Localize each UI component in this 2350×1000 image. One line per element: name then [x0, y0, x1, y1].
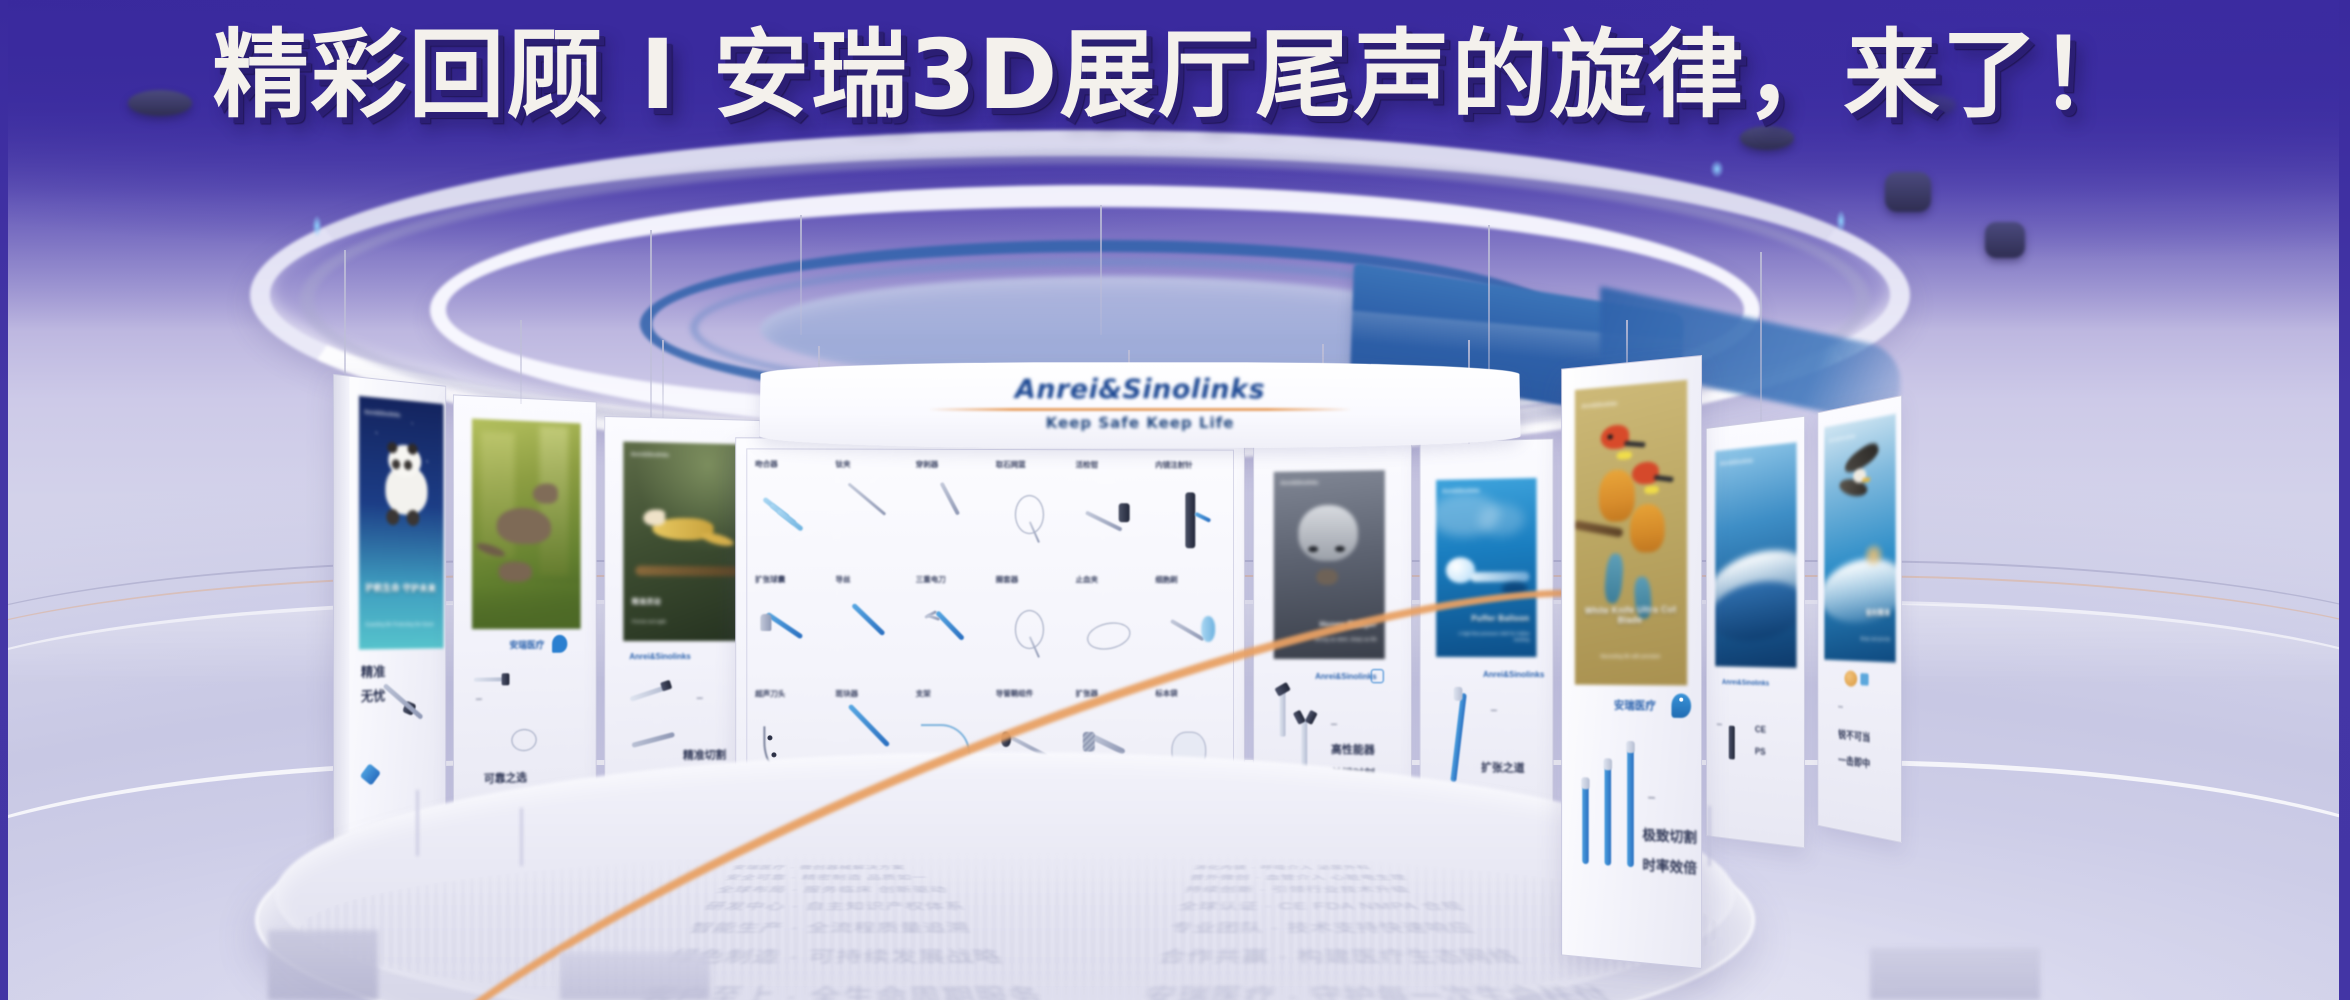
product-label: 超声刀头 [755, 689, 785, 700]
product-grid-cell[interactable]: 穿刺器 [911, 457, 991, 572]
product-label: 标本袋 [1155, 688, 1177, 699]
bird-beak [1653, 475, 1673, 482]
bird-body [1630, 503, 1665, 553]
product-grid-cell[interactable]: 取石网篮 [991, 457, 1071, 572]
rail-post [1708, 806, 1711, 866]
product-grid-host: 吻合器钛夹穿刺器取石网篮活检钳内镜注射针扩张球囊导丝三重电刀圈套器止血夹细胞刷超… [750, 456, 1230, 801]
instrument-shaft [474, 677, 504, 681]
caption-balloon-line: 扩张之道 [1481, 761, 1525, 777]
poster-logo: Anrei&Sinolinks [1442, 488, 1480, 495]
product-label: 导管鞘组件 [996, 688, 1033, 699]
poster-subtitle: A high-flow pressure relief for hollow t… [1443, 631, 1529, 643]
caption-lizard-brand: Anrei&Sinolinks [629, 651, 690, 662]
product-illustration-trident [917, 604, 984, 680]
poster-subtitle: Strong as steel, sharp as life [1281, 637, 1377, 644]
caption-wave-brand: Anrei&Sinolinks [1722, 678, 1769, 689]
bird-throat [1617, 451, 1632, 460]
product-label: 圈套器 [996, 574, 1018, 585]
rail-post [416, 790, 419, 856]
product-illustration-stapler [1077, 489, 1144, 565]
balloon-shaft [1470, 571, 1529, 582]
rail-post [520, 808, 523, 866]
instrument-tip [1581, 777, 1589, 789]
instrument-shaft [1450, 693, 1467, 783]
floor-text-line: 全球布局 · 服务临床 创新驱动 [715, 886, 1200, 893]
instrument-shaft [629, 686, 665, 702]
product-label: 钛夹 [836, 459, 851, 470]
product-illustration-blue-wire [837, 604, 904, 680]
product-grid-cell[interactable]: 活检钳 [1071, 457, 1151, 572]
bird-head [1632, 461, 1659, 485]
instrument-label: — [1648, 794, 1655, 804]
caption-eagle-line2: 一击即中 [1838, 754, 1870, 772]
brand-underline [928, 408, 1352, 411]
caption-wave-line2: PS [1755, 745, 1766, 758]
brand-mark-dot [1679, 698, 1683, 702]
poster-lizard: Anrei&Sinolinks 精准灵动 Precise and agile [623, 442, 743, 641]
hanging-wire [520, 320, 522, 404]
brand-logo-text: Anrei&Sinolinks [1015, 374, 1265, 405]
caption-bird-brand: 安瑞医疗 [1614, 699, 1656, 715]
kangaroo-body [496, 508, 550, 545]
product-grid-cell[interactable]: 钛夹 [831, 457, 911, 572]
ceiling-light-puck [1985, 222, 2025, 258]
poster-logo: Anrei&Sinolinks [1828, 433, 1855, 443]
kiosk-edge [334, 375, 349, 855]
product-label: 穿刺器 [916, 459, 939, 470]
caption-panda-line1: 精准 [361, 663, 386, 682]
poster-subtitle: Guarding life Protecting the future [365, 622, 438, 629]
product-illustration-dark-device [1157, 489, 1224, 565]
poster-panda: Anrei&Sinolinks 护航生命 守护未来 Guarding life … [359, 396, 443, 650]
instrument-label: — [697, 695, 703, 703]
floor-text-line: 消化内镜 · 呼吸介入 泌尿外科 [1193, 865, 1624, 870]
panel-kangaroo[interactable]: 安瑞医疗 — 可靠之选 [453, 394, 597, 841]
poster-title: 锐利精准 [1829, 607, 1890, 617]
caption-eagle-line1: 锐不可当 [1838, 729, 1870, 747]
poster-title: Puffer Balloon [1443, 614, 1529, 623]
banner-title: 精彩回顾 I 安瑞3D展厅尾声的旋律，来了！ [212, 22, 2137, 130]
water-highlight [1478, 503, 1524, 536]
bird-tail [1603, 553, 1624, 604]
instrument-label: — [476, 696, 482, 705]
product-illustration-tapered-wire [917, 489, 984, 565]
product-illustration-snare-loop [997, 604, 1064, 680]
product-illustration-brush [1157, 604, 1224, 679]
floor-text-line: 安瑞医疗 · 守护每一次生命托付 [1139, 987, 1883, 1000]
instrument-label: — [1717, 721, 1722, 730]
product-label: 扩张球囊 [755, 573, 785, 584]
bird-beak [1624, 441, 1645, 448]
product-grid-cell[interactable]: 吻合器 [750, 456, 830, 571]
starfield [359, 396, 443, 650]
panda-arm [386, 509, 399, 526]
branch [1575, 520, 1624, 538]
product-label: 导丝 [836, 574, 851, 585]
floor-text-line: 安瑞医疗 · 微创器械解决方案 [731, 865, 1162, 870]
brand-mark-icon [552, 635, 567, 653]
product-illustration-multi-rod [757, 489, 825, 565]
product-label: 支架 [916, 688, 931, 699]
panda-eye [392, 459, 400, 470]
product-grid-cell[interactable]: 细胞刷 [1151, 572, 1230, 686]
caption-kangaroo-line: 可靠之选 [484, 771, 527, 788]
info-box-icon [1371, 669, 1384, 683]
kangaroo-legs [499, 562, 532, 582]
instrument-head [660, 680, 672, 692]
branch [636, 565, 740, 576]
eagle-beak [1862, 477, 1870, 482]
instrument-shaft [631, 732, 675, 748]
caption-panda-line2: 无忧 [361, 687, 386, 706]
poster-logo: Anrei&Sinolinks [1581, 401, 1617, 410]
foreground-block [560, 952, 710, 1000]
poster-bee-eater: Anrei&Sinolinks White Knife Ultra Cut Bl… [1575, 380, 1687, 686]
poster-logo: Anrei&Sinolinks [1280, 481, 1318, 488]
product-grid-cell[interactable]: 扩张球囊 [750, 571, 830, 686]
banner-title-wrap: 精彩回顾 I 安瑞3D展厅尾声的旋律，来了！ [0, 22, 2350, 130]
poster-title: Honey Badger [1281, 620, 1377, 629]
poster-logo: Anrei&Sinolinks [1720, 458, 1753, 467]
floor-text-line: 合作共赢 · 构建医疗生态网络 [1156, 949, 1801, 965]
instrument-handle [360, 763, 381, 786]
led-glint [1710, 160, 1724, 178]
product-grid-cell[interactable]: 导丝 [831, 572, 911, 687]
instrument-shaft [1605, 766, 1612, 866]
badger-eye [1335, 546, 1345, 552]
product-illustration-straight-wire [837, 489, 904, 565]
product-grid-cell[interactable]: 内镜注射针 [1151, 457, 1230, 571]
left-edge-border [0, 0, 8, 1000]
instrument-shaft [1280, 691, 1286, 737]
product-label: 三重电刀 [916, 574, 946, 585]
snare-loop [511, 729, 536, 752]
instrument-shaft [1627, 749, 1634, 867]
product-label: 取石网篮 [996, 459, 1026, 470]
instrument-label: — [1331, 721, 1337, 729]
product-label: 斑块器 [836, 688, 859, 699]
product-label: 活检钳 [1076, 459, 1098, 470]
brand-accent-icon [1844, 670, 1857, 687]
foreground-block [268, 930, 378, 1000]
poster-wave: Anrei&Sinolinks [1715, 442, 1796, 668]
caption-kangaroo-brand: 安瑞医疗 [509, 639, 544, 652]
product-label: 内镜注射针 [1155, 459, 1192, 470]
instrument-jaw [1305, 710, 1318, 725]
poster-subtitle: Precise and agile [632, 619, 736, 625]
product-illustration-oval-loop [1077, 604, 1144, 680]
product-label: 止血夹 [1076, 574, 1098, 585]
instrument-tip [1454, 687, 1463, 701]
caption-wave-line1: CE [1755, 723, 1766, 736]
brand-accent-icon [1860, 673, 1868, 686]
instrument-shaft [383, 683, 424, 720]
product-label: 吻合器 [755, 458, 778, 469]
poster-honey-badger: Anrei&Sinolinks Honey Badger Strong as s… [1274, 470, 1385, 659]
poster-kangaroo [472, 419, 581, 630]
poster-title: 精准灵动 [632, 597, 736, 607]
support-rod [1100, 205, 1102, 335]
panda-arm [406, 510, 419, 526]
foreground-block [1870, 948, 2040, 1000]
hanging-wire [662, 340, 664, 418]
badger-snout [1316, 569, 1338, 585]
product-illustration-dilator [757, 604, 825, 680]
poster-logo: Anrei&Sinolinks [631, 452, 669, 459]
kangaroo-head [532, 484, 557, 505]
caption-badger-brand: Anrei&Sinolinks [1315, 671, 1376, 682]
panel-wave[interactable]: Anrei&Sinolinks Anrei&Sinolinks — CE PS [1706, 416, 1805, 849]
caption-bird-line1: 极致切割 [1642, 826, 1697, 849]
instrument-jaw [1274, 682, 1290, 697]
instrument-tip [1604, 758, 1612, 770]
deep-water-shadow [1502, 582, 1528, 596]
kiosk-panda[interactable]: Anrei&Sinolinks 护航生命 守护未来 Guarding life … [333, 374, 446, 856]
caption-lizard-line1: 精准切割 [683, 748, 726, 764]
badger-head [1298, 505, 1358, 562]
instrument-tip [1626, 741, 1635, 753]
bird-body [1599, 469, 1635, 523]
caption-balloon-brand: Anrei&Sinolinks [1483, 669, 1544, 680]
bird-head [1601, 424, 1629, 450]
product-label: 扩张器 [1076, 688, 1098, 699]
support-rod [800, 215, 802, 335]
led-glint [312, 215, 322, 237]
poster-title: 护航生命 守护未来 [365, 581, 438, 595]
instrument-label: — [1491, 707, 1497, 715]
floor-text-line: 安全可靠 · 精密制造 品质如一 [724, 874, 1179, 880]
product-illustration-snare-loop [997, 489, 1064, 565]
product-grid-cell[interactable]: 止血夹 [1071, 572, 1151, 687]
kiosk-bee-eater[interactable]: Anrei&Sinolinks White Knife Ultra Cut Bl… [1561, 355, 1702, 969]
poster-puffer-balloon: Anrei&Sinolinks Puffer Balloon A high-fl… [1436, 478, 1536, 657]
poster-eagle: Anrei&Sinolinks 锐利精准 Sharp and precise [1824, 414, 1895, 663]
floor-text-line: 研发中心 · 自主知识产权体系 [702, 902, 1226, 911]
instrument-label: — [1838, 703, 1843, 712]
brand-header-band: Anrei&Sinolinks Keep Safe Keep Life [759, 362, 1521, 448]
product-grid-cell[interactable]: 三重电刀 [911, 572, 991, 687]
product-grid-cell[interactable]: 圈套器 [991, 572, 1071, 687]
instrument-head [502, 673, 510, 685]
poster-subtitle: Harvesting life with precision [1582, 654, 1679, 661]
panel-eagle[interactable]: Anrei&Sinolinks 锐利精准 Sharp and precise —… [1818, 395, 1902, 843]
lizard-head [643, 510, 665, 526]
caption-bird-line2: 时率效倍 [1642, 856, 1697, 879]
panda-eye [404, 460, 412, 470]
product-label: 细胞刷 [1155, 574, 1177, 585]
brand-tagline: Keep Safe Keep Life [1046, 414, 1235, 432]
exhibition-banner-image: Anrei&Sinolinks 护航生命 守护未来 Guarding life … [0, 0, 2350, 1000]
caption-badger-line1: 高性能器 [1331, 743, 1375, 759]
bird-throat [1645, 485, 1659, 494]
poster-subtitle: Sharp and precise [1829, 635, 1890, 642]
grass [472, 583, 581, 629]
instrument-shaft [1582, 785, 1588, 864]
led-glint [1836, 210, 1846, 232]
poster-title: White Knife Ultra Cut Blade [1582, 604, 1679, 625]
ceiling-light-puck [1885, 172, 1931, 212]
instrument-shaft [1729, 726, 1735, 760]
right-edge-border [2339, 0, 2350, 1000]
